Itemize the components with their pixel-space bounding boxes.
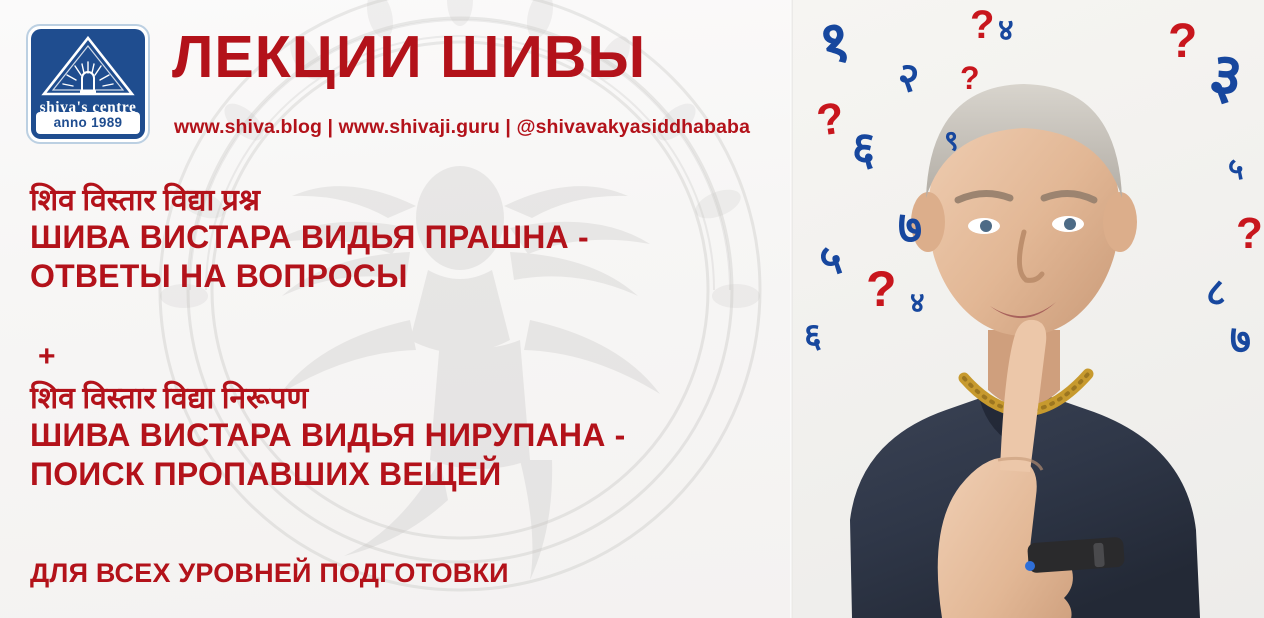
- logo-badge[interactable]: shiva's centre anno 1989: [26, 24, 150, 144]
- question-mark-glyph: ?: [960, 62, 980, 94]
- poster-subtitle-links: www.shiva.blog | www.shivaji.guru | @shi…: [174, 116, 750, 139]
- panel-divider: [790, 0, 793, 618]
- question-mark-glyph: ?: [970, 5, 994, 45]
- left-content-panel: shiva's centre anno 1989 ЛЕКЦИИ ШИВЫ www…: [0, 0, 792, 618]
- course-block-2: शिव विस्तार विद्या निरूपण ШИВА ВИСТАРА В…: [30, 382, 625, 494]
- question-mark-glyph: ?: [1236, 212, 1263, 256]
- devanagari-numeral-glyph: ७: [896, 204, 925, 252]
- logo-inner: shiva's centre anno 1989: [31, 29, 145, 139]
- devanagari-numeral-glyph: ५: [1228, 155, 1244, 185]
- devanagari-numeral-glyph: ४: [998, 16, 1014, 46]
- block1-cyrillic-line1: ШИВА ВИСТАРА ВИДЬЯ ПРАШНА -: [30, 218, 589, 257]
- logo-anno-year: anno 1989: [36, 112, 140, 134]
- block2-devanagari: शिव विस्तार विद्या निरूपण: [30, 382, 625, 416]
- nataraja-watermark-svg: [110, 0, 792, 618]
- devanagari-numeral-glyph: ८: [1206, 274, 1226, 312]
- plus-separator: +: [38, 340, 56, 374]
- question-mark-glyph: ?: [866, 264, 897, 314]
- devanagari-numeral-glyph: ४: [910, 290, 925, 318]
- block1-cyrillic-line2: ОТВЕТЫ НА ВОПРОСЫ: [30, 257, 589, 296]
- audience-footer-line: ДЛЯ ВСЕХ УРОВНЕЙ ПОДГОТОВКИ: [30, 558, 509, 589]
- poster-title: ЛЕКЦИИ ШИВЫ: [172, 28, 646, 87]
- block1-devanagari: शिव विस्तार विद्या प्रश्न: [30, 184, 589, 218]
- devanagari-numeral-glyph: ७: [1228, 319, 1253, 361]
- right-photo-panel: १?४२?३??६९५७?५?८४६७: [792, 0, 1264, 618]
- block2-cyrillic-line1: ШИВА ВИСТАРА ВИДЬЯ НИРУПАНА -: [30, 416, 625, 455]
- nataraja-watermark: [110, 0, 792, 618]
- logo-triangle-shrine-icon: [41, 35, 135, 97]
- devanagari-numeral-glyph: ९: [944, 128, 959, 156]
- block2-cyrillic-line2: ПОИСК ПРОПАВШИХ ВЕЩЕЙ: [30, 455, 625, 494]
- devanagari-numeral-glyph: ६: [804, 320, 822, 354]
- devanagari-numeral-glyph: ६: [850, 125, 879, 173]
- course-block-1: शिव विस्तार विद्या प्रश्न ШИВА ВИСТАРА В…: [30, 184, 589, 296]
- speaker-photo: [792, 0, 1264, 618]
- poster-canvas: shiva's centre anno 1989 ЛЕКЦИИ ШИВЫ www…: [0, 0, 1264, 618]
- question-mark-glyph: ?: [1168, 18, 1197, 66]
- speaker-ear-right: [1103, 192, 1137, 252]
